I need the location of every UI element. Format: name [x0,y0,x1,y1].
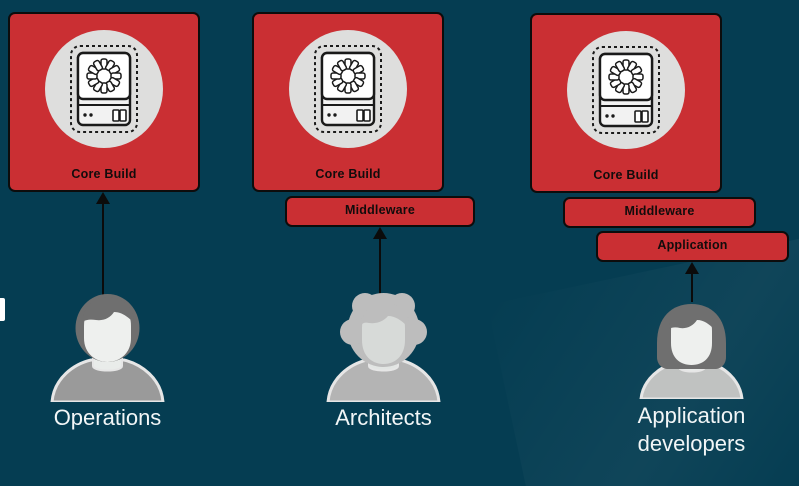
person-operations: Operations [44,292,171,402]
left-edge-sliver [0,298,5,321]
card-middleware-appdev[interactable]: Middleware [563,197,756,228]
arrow-appdev [684,262,700,302]
person-application-developers: Application developers [635,299,748,399]
card-application-appdev[interactable]: Application [596,231,789,262]
card-label: Application [598,238,787,252]
person-architects: Architects [320,292,447,402]
card-core-build-appdev[interactable]: Core Build [530,13,722,193]
server-spinner-icon [45,30,163,148]
arrow-architects [372,227,388,295]
arrow-shaft [691,269,693,302]
card-label: Middleware [565,204,754,218]
arrow-operations [95,192,111,295]
arrow-shaft [379,234,381,295]
card-label: Core Build [254,167,442,181]
card-middleware-architects[interactable]: Middleware [285,196,475,227]
card-label: Core Build [10,167,198,181]
person-label-operations: Operations [0,404,218,432]
card-core-build-operations[interactable]: Core Build [8,12,200,192]
card-core-build-architects[interactable]: Core Build [252,12,444,192]
person-label-architects: Architects [274,404,494,432]
person-label-application-developers: Application developers [597,402,787,458]
card-label: Core Build [532,168,720,182]
card-label: Middleware [287,203,473,217]
server-spinner-icon [289,30,407,148]
arrow-shaft [102,199,104,295]
diagram-canvas: Core Build Operations Middleware [0,0,799,486]
server-spinner-icon [567,31,685,149]
